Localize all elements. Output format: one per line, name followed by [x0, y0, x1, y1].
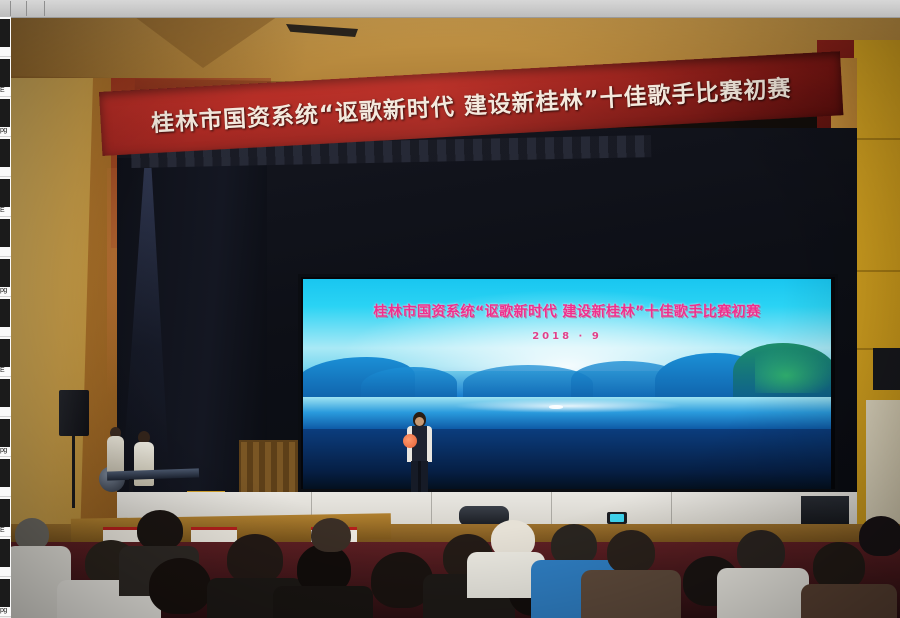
audience-head: [149, 558, 211, 614]
audience-head: [813, 542, 865, 590]
file-thumbnail-label: [0, 246, 11, 255]
file-thumbnail-row[interactable]: E: [0, 337, 11, 377]
file-thumbnail-image: [0, 579, 10, 607]
file-thumbnail-row[interactable]: [0, 17, 11, 57]
file-thumbnail-image: [0, 139, 10, 167]
left-speaker: [59, 390, 89, 436]
file-thumbnail-label: [0, 566, 11, 575]
led-foliage: [755, 349, 831, 393]
file-thumbnail-label: [0, 46, 11, 55]
file-thumbnail-row[interactable]: [0, 377, 11, 417]
toolbar-separator: [44, 1, 45, 16]
file-thumbnail-image: [0, 339, 10, 367]
file-thumbnail-label: pg: [0, 446, 11, 455]
file-thumbnail-image: [0, 59, 10, 87]
file-thumbnail-row[interactable]: [0, 137, 11, 177]
led-boat: [549, 405, 563, 409]
file-thumbnail-image: [0, 459, 10, 487]
screenshot-root: EpgEpgEpgEpg 桂林市国资系统“讴歌新时代 建设新桂林”十佳歌手比赛初…: [0, 0, 900, 618]
right-wall-seam: [854, 138, 900, 140]
audience-head: [227, 534, 283, 584]
file-thumbnail-label: [0, 166, 11, 175]
file-thumbnail-label: pg: [0, 606, 11, 615]
toolbar-separator: [10, 1, 11, 16]
file-thumbnail-image: [0, 99, 10, 127]
right-wall-speaker: [873, 348, 900, 390]
file-thumbnail-row[interactable]: [0, 217, 11, 257]
led-screen: 桂林市国资系统“讴歌新时代 建设新桂林”十佳歌手比赛初赛 2018 · 9: [303, 279, 831, 429]
file-thumbnail-row[interactable]: E: [0, 177, 11, 217]
file-thumbnail-label: pg: [0, 126, 11, 135]
file-thumbnail-label: [0, 486, 11, 495]
performer-face: [415, 417, 424, 426]
file-thumbnail-row[interactable]: E: [0, 497, 11, 537]
audience-body: [801, 584, 897, 618]
apron-seam: [551, 492, 552, 528]
file-thumbnail-row[interactable]: pg: [0, 577, 11, 617]
file-thumbnail-image: [0, 379, 10, 407]
file-thumbnail-row[interactable]: [0, 457, 11, 497]
audience-head: [859, 516, 900, 556]
audience-body: [581, 570, 681, 618]
file-thumbnail-image: [0, 499, 10, 527]
file-thumbnail-row[interactable]: [0, 297, 11, 337]
file-thumbnail-label: [0, 326, 11, 335]
app-toolbar[interactable]: [0, 0, 900, 18]
file-thumbnail-row[interactable]: pg: [0, 417, 11, 457]
judge-name-card: [191, 527, 237, 543]
file-thumbnail-label: [0, 406, 11, 415]
file-thumbnail-row[interactable]: E: [0, 57, 11, 97]
photo-viewport[interactable]: 桂林市国资系统“讴歌新时代 建设新桂林”十佳歌手比赛初赛 桂林市国资系统“讴歌新…: [11, 18, 900, 618]
file-thumbnail-label: E: [0, 366, 11, 375]
audience-body: [273, 586, 373, 618]
file-thumbnail-strip[interactable]: EpgEpgEpgEpg: [0, 17, 11, 618]
file-thumbnail-row[interactable]: pg: [0, 97, 11, 137]
audience-phone-screen: [610, 514, 624, 522]
file-thumbnail-label: E: [0, 206, 11, 215]
audience-body: [717, 568, 809, 618]
file-thumbnail-label: E: [0, 526, 11, 535]
apron-seam: [431, 492, 432, 528]
file-thumbnail-image: [0, 259, 10, 287]
file-thumbnail-image: [0, 179, 10, 207]
apron-seam: [671, 492, 672, 528]
led-screen-lower: [303, 429, 831, 489]
left-speaker-stand: [72, 436, 75, 508]
performer-bouquet: [403, 434, 417, 448]
toolbar-separator: [26, 1, 27, 16]
audience-head: [137, 510, 183, 550]
file-thumbnail-image: [0, 299, 10, 327]
right-wall-seam: [854, 270, 900, 272]
file-thumbnail-label: E: [0, 86, 11, 95]
file-thumbnail-row[interactable]: pg: [0, 257, 11, 297]
led-water-reflection: [453, 399, 683, 413]
file-thumbnail-image: [0, 539, 10, 567]
file-thumbnail-image: [0, 19, 10, 47]
file-thumbnail-row[interactable]: [0, 537, 11, 577]
led-date-text: 2018 · 9: [303, 331, 831, 342]
audience-head: [607, 530, 655, 574]
file-thumbnail-label: pg: [0, 286, 11, 295]
audience-head: [311, 518, 351, 552]
led-title-text: 桂林市国资系统“讴歌新时代 建设新桂林”十佳歌手比赛初赛: [303, 301, 831, 321]
file-thumbnail-image: [0, 419, 10, 447]
file-thumbnail-image: [0, 219, 10, 247]
